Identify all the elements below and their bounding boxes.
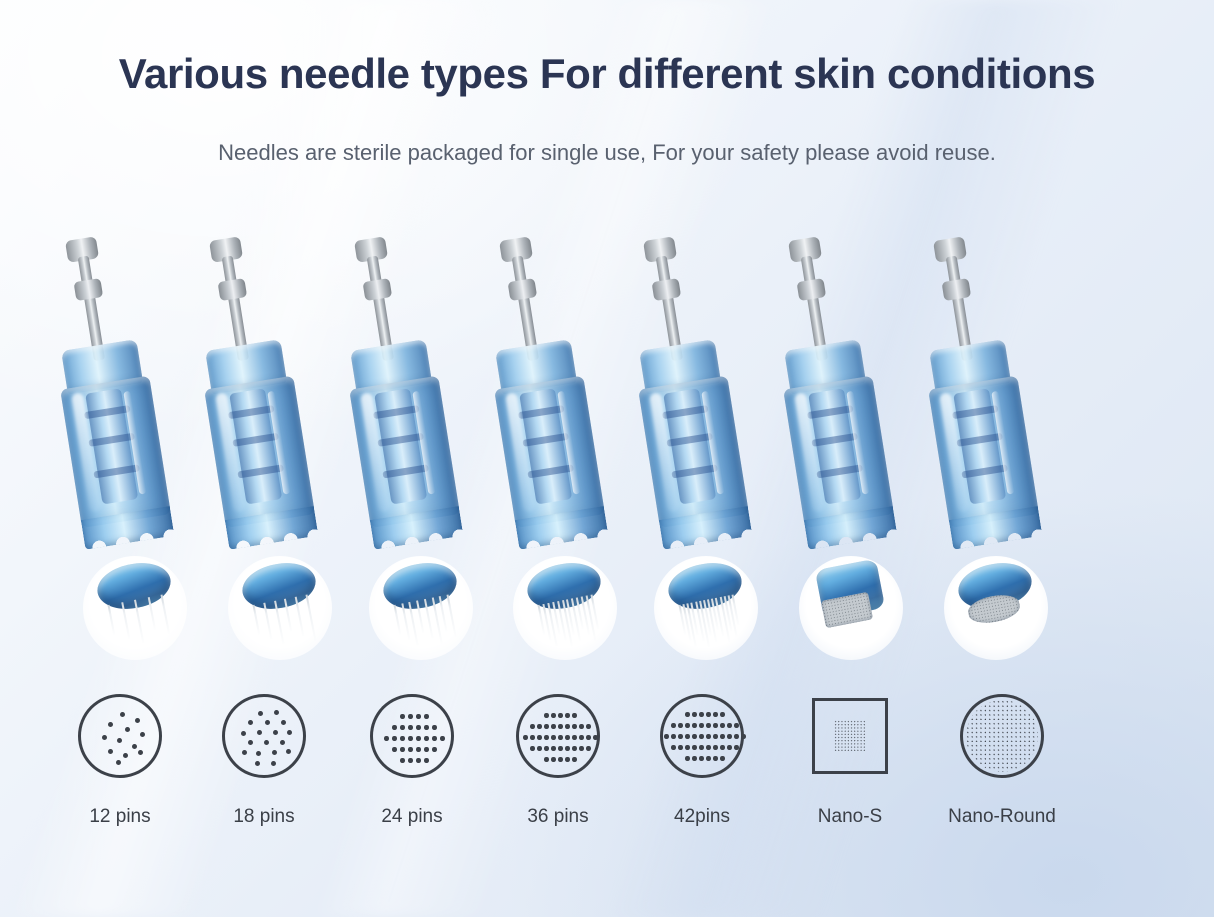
page-title: Various needle types For different skin …	[0, 50, 1214, 98]
pattern-dot	[537, 735, 542, 740]
pattern-dot	[551, 757, 556, 762]
pattern-dot	[255, 761, 260, 766]
pattern-dot	[416, 725, 421, 730]
pin-pattern-icon	[370, 694, 454, 778]
product-label: 18 pins	[233, 806, 294, 828]
pattern-dot	[713, 756, 718, 761]
pattern-dot	[400, 747, 405, 752]
pattern-dot	[692, 723, 697, 728]
needle-tip-closeup-row	[0, 556, 1214, 678]
pattern-dot	[678, 745, 683, 750]
pattern-dot	[692, 712, 697, 717]
needle-tip-needles	[249, 594, 320, 657]
pattern-dot	[123, 753, 128, 758]
pattern-dot	[572, 735, 577, 740]
needle-cartridge	[742, 220, 910, 553]
needle-tip-needles	[104, 594, 175, 657]
pattern-dot	[384, 736, 389, 741]
pattern-dot	[720, 712, 725, 717]
product-label: Nano-Round	[948, 806, 1056, 828]
pattern-dot	[408, 725, 413, 730]
pattern-dot	[108, 722, 113, 727]
needle-tip-closeup	[944, 556, 1048, 660]
pattern-dot	[272, 750, 277, 755]
pattern-dot	[544, 735, 549, 740]
pattern-dot	[392, 747, 397, 752]
needle-tip-closeup	[228, 556, 332, 660]
pattern-dot	[544, 724, 549, 729]
pattern-dot	[558, 746, 563, 751]
pattern-dot	[117, 738, 122, 743]
pattern-dot	[565, 735, 570, 740]
cartridge-body	[494, 376, 605, 528]
pattern-dot	[432, 736, 437, 741]
pattern-dot	[108, 749, 113, 754]
needle-tip-closeup	[799, 556, 903, 660]
needle-tip-needles	[390, 594, 461, 657]
pattern-dot	[248, 740, 253, 745]
pattern-dot	[572, 724, 577, 729]
cartridge-body	[783, 376, 894, 528]
pattern-dot	[593, 735, 598, 740]
pattern-dot	[706, 756, 711, 761]
pattern-dot	[424, 736, 429, 741]
pattern-dot	[558, 724, 563, 729]
pattern-dot	[713, 712, 718, 717]
pattern-dot	[432, 747, 437, 752]
needle-cartridge	[597, 220, 765, 553]
pattern-dot	[400, 714, 405, 719]
needle-cartridge	[19, 220, 187, 553]
pattern-dot	[720, 756, 725, 761]
pin-pattern-icon	[78, 694, 162, 778]
pattern-dot	[565, 746, 570, 751]
needle-cartridge	[308, 220, 476, 553]
pattern-dot	[671, 723, 676, 728]
cartridge-plunger-collar	[797, 278, 827, 301]
pattern-dot	[530, 724, 535, 729]
pattern-dot	[551, 713, 556, 718]
product-label-row: 12 pins18 pins24 pins36 pins42pinsNano-S…	[0, 806, 1214, 840]
pattern-dot	[281, 720, 286, 725]
pattern-dot	[579, 724, 584, 729]
product-label: 36 pins	[527, 806, 588, 828]
needle-tip-needles	[675, 594, 746, 657]
pattern-dot	[685, 712, 690, 717]
pattern-dot	[530, 735, 535, 740]
pattern-dot	[678, 723, 683, 728]
pattern-dot	[706, 723, 711, 728]
pattern-dot	[416, 747, 421, 752]
cartridge-body	[638, 376, 749, 528]
needle-tip-closeup	[369, 556, 473, 660]
pattern-dot	[125, 727, 130, 732]
cartridge-row	[0, 225, 1214, 545]
pattern-dot	[416, 758, 421, 763]
cartridge-body	[349, 376, 460, 528]
pattern-dot	[671, 745, 676, 750]
pattern-dot	[537, 724, 542, 729]
pattern-dot	[274, 710, 279, 715]
pattern-dot	[400, 725, 405, 730]
pattern-dot	[102, 735, 107, 740]
pattern-dot	[706, 734, 711, 739]
pattern-dot	[241, 731, 246, 736]
pattern-dot	[138, 750, 143, 755]
pattern-dot	[720, 734, 725, 739]
pattern-dot	[416, 736, 421, 741]
pattern-dot	[685, 723, 690, 728]
product-label: 12 pins	[89, 806, 150, 828]
pattern-dot	[537, 746, 542, 751]
needle-cartridge	[163, 220, 331, 553]
pattern-dot	[424, 747, 429, 752]
pattern-dot	[558, 757, 563, 762]
pattern-dot	[392, 725, 397, 730]
pattern-dot	[408, 736, 413, 741]
product-label: 24 pins	[381, 806, 442, 828]
pattern-dot	[565, 757, 570, 762]
pattern-dot	[140, 732, 145, 737]
pattern-dot	[440, 736, 445, 741]
pattern-dot	[685, 756, 690, 761]
pattern-dot	[116, 760, 121, 765]
pattern-dot	[544, 746, 549, 751]
pattern-dot	[424, 758, 429, 763]
pattern-circle-outline	[78, 694, 162, 778]
cartridge-plunger-collar	[508, 278, 538, 301]
pin-pattern-icon-row	[0, 694, 1214, 786]
pattern-dot	[424, 725, 429, 730]
pattern-dot	[280, 740, 285, 745]
pattern-dot	[408, 747, 413, 752]
pattern-dot	[699, 723, 704, 728]
pattern-dot	[544, 713, 549, 718]
pin-pattern-icon	[808, 694, 892, 778]
needle-tip-closeup	[513, 556, 617, 660]
pin-pattern-icon	[960, 694, 1044, 778]
pattern-dot	[671, 734, 676, 739]
pattern-dot	[392, 736, 397, 741]
pattern-dot	[692, 734, 697, 739]
pattern-dot	[720, 723, 725, 728]
pattern-dot	[579, 735, 584, 740]
pin-pattern-icon	[222, 694, 306, 778]
cartridge-plunger-collar	[942, 278, 972, 301]
pattern-dot	[256, 751, 261, 756]
pattern-dot	[400, 758, 405, 763]
pattern-dot	[572, 746, 577, 751]
pattern-dot	[734, 734, 739, 739]
pattern-dot	[579, 746, 584, 751]
pattern-mesh-fill	[966, 700, 1038, 772]
pattern-dot	[586, 735, 591, 740]
needle-tip-needles	[534, 594, 605, 657]
pattern-dot	[713, 745, 718, 750]
cartridge-plunger-collar	[652, 278, 682, 301]
pattern-dot	[271, 761, 276, 766]
product-label: Nano-S	[818, 806, 882, 828]
pattern-dot	[699, 745, 704, 750]
cartridge-plunger-collar	[363, 278, 393, 301]
pattern-dot	[565, 713, 570, 718]
pattern-dot	[558, 735, 563, 740]
pattern-dot	[120, 712, 125, 717]
pattern-dot	[408, 714, 413, 719]
pattern-dot	[242, 750, 247, 755]
pattern-dot	[286, 749, 291, 754]
pattern-circle-outline	[222, 694, 306, 778]
pattern-mesh-fill	[834, 720, 866, 752]
pattern-dot	[287, 730, 292, 735]
pattern-dot	[135, 718, 140, 723]
pattern-dot	[720, 745, 725, 750]
pattern-dot	[713, 734, 718, 739]
pattern-dot	[523, 735, 528, 740]
needle-cartridge	[453, 220, 621, 553]
needle-cartridge	[887, 220, 1055, 553]
pattern-dot	[699, 712, 704, 717]
pattern-dot	[706, 745, 711, 750]
pattern-dot	[586, 746, 591, 751]
pattern-dot	[551, 746, 556, 751]
pattern-dot	[713, 723, 718, 728]
pattern-dot	[586, 724, 591, 729]
pattern-dot	[727, 734, 732, 739]
product-label: 42pins	[674, 806, 730, 828]
pattern-dot	[248, 720, 253, 725]
pattern-dot	[685, 745, 690, 750]
pattern-dot	[699, 734, 704, 739]
pattern-dot	[258, 711, 263, 716]
needle-tip-closeup	[83, 556, 187, 660]
page-subtitle: Needles are sterile packaged for single …	[0, 140, 1214, 166]
pattern-dot	[685, 734, 690, 739]
pattern-dot	[551, 735, 556, 740]
pin-pattern-icon	[660, 694, 744, 778]
pattern-dot	[416, 714, 421, 719]
pattern-dot	[692, 756, 697, 761]
pattern-dot	[734, 723, 739, 728]
pattern-dot	[132, 744, 137, 749]
pattern-dot	[692, 745, 697, 750]
cartridge-body	[60, 376, 171, 528]
cartridge-plunger-collar	[218, 278, 248, 301]
pattern-dot	[400, 736, 405, 741]
cartridge-body	[204, 376, 315, 528]
cartridge-plunger-collar	[74, 278, 104, 301]
pattern-dot	[699, 756, 704, 761]
pattern-dot	[408, 758, 413, 763]
pattern-dot	[257, 730, 262, 735]
pattern-dot	[664, 734, 669, 739]
pattern-dot	[727, 745, 732, 750]
pattern-dot	[551, 724, 556, 729]
pattern-dot	[741, 734, 746, 739]
pattern-dot	[264, 740, 269, 745]
pattern-dot	[273, 730, 278, 735]
pin-pattern-icon	[516, 694, 600, 778]
infographic-page: Various needle types For different skin …	[0, 0, 1214, 917]
pattern-dot	[265, 720, 270, 725]
pattern-dot	[678, 734, 683, 739]
needle-tip-closeup	[654, 556, 758, 660]
pattern-dot	[727, 723, 732, 728]
pattern-dot	[706, 712, 711, 717]
pattern-dot	[432, 725, 437, 730]
pattern-dot	[558, 713, 563, 718]
pattern-dot	[565, 724, 570, 729]
pattern-dot	[572, 713, 577, 718]
pattern-dot	[544, 757, 549, 762]
pattern-dot	[734, 745, 739, 750]
cartridge-body	[928, 376, 1039, 528]
pattern-dot	[572, 757, 577, 762]
pattern-dot	[530, 746, 535, 751]
pattern-dot	[424, 714, 429, 719]
